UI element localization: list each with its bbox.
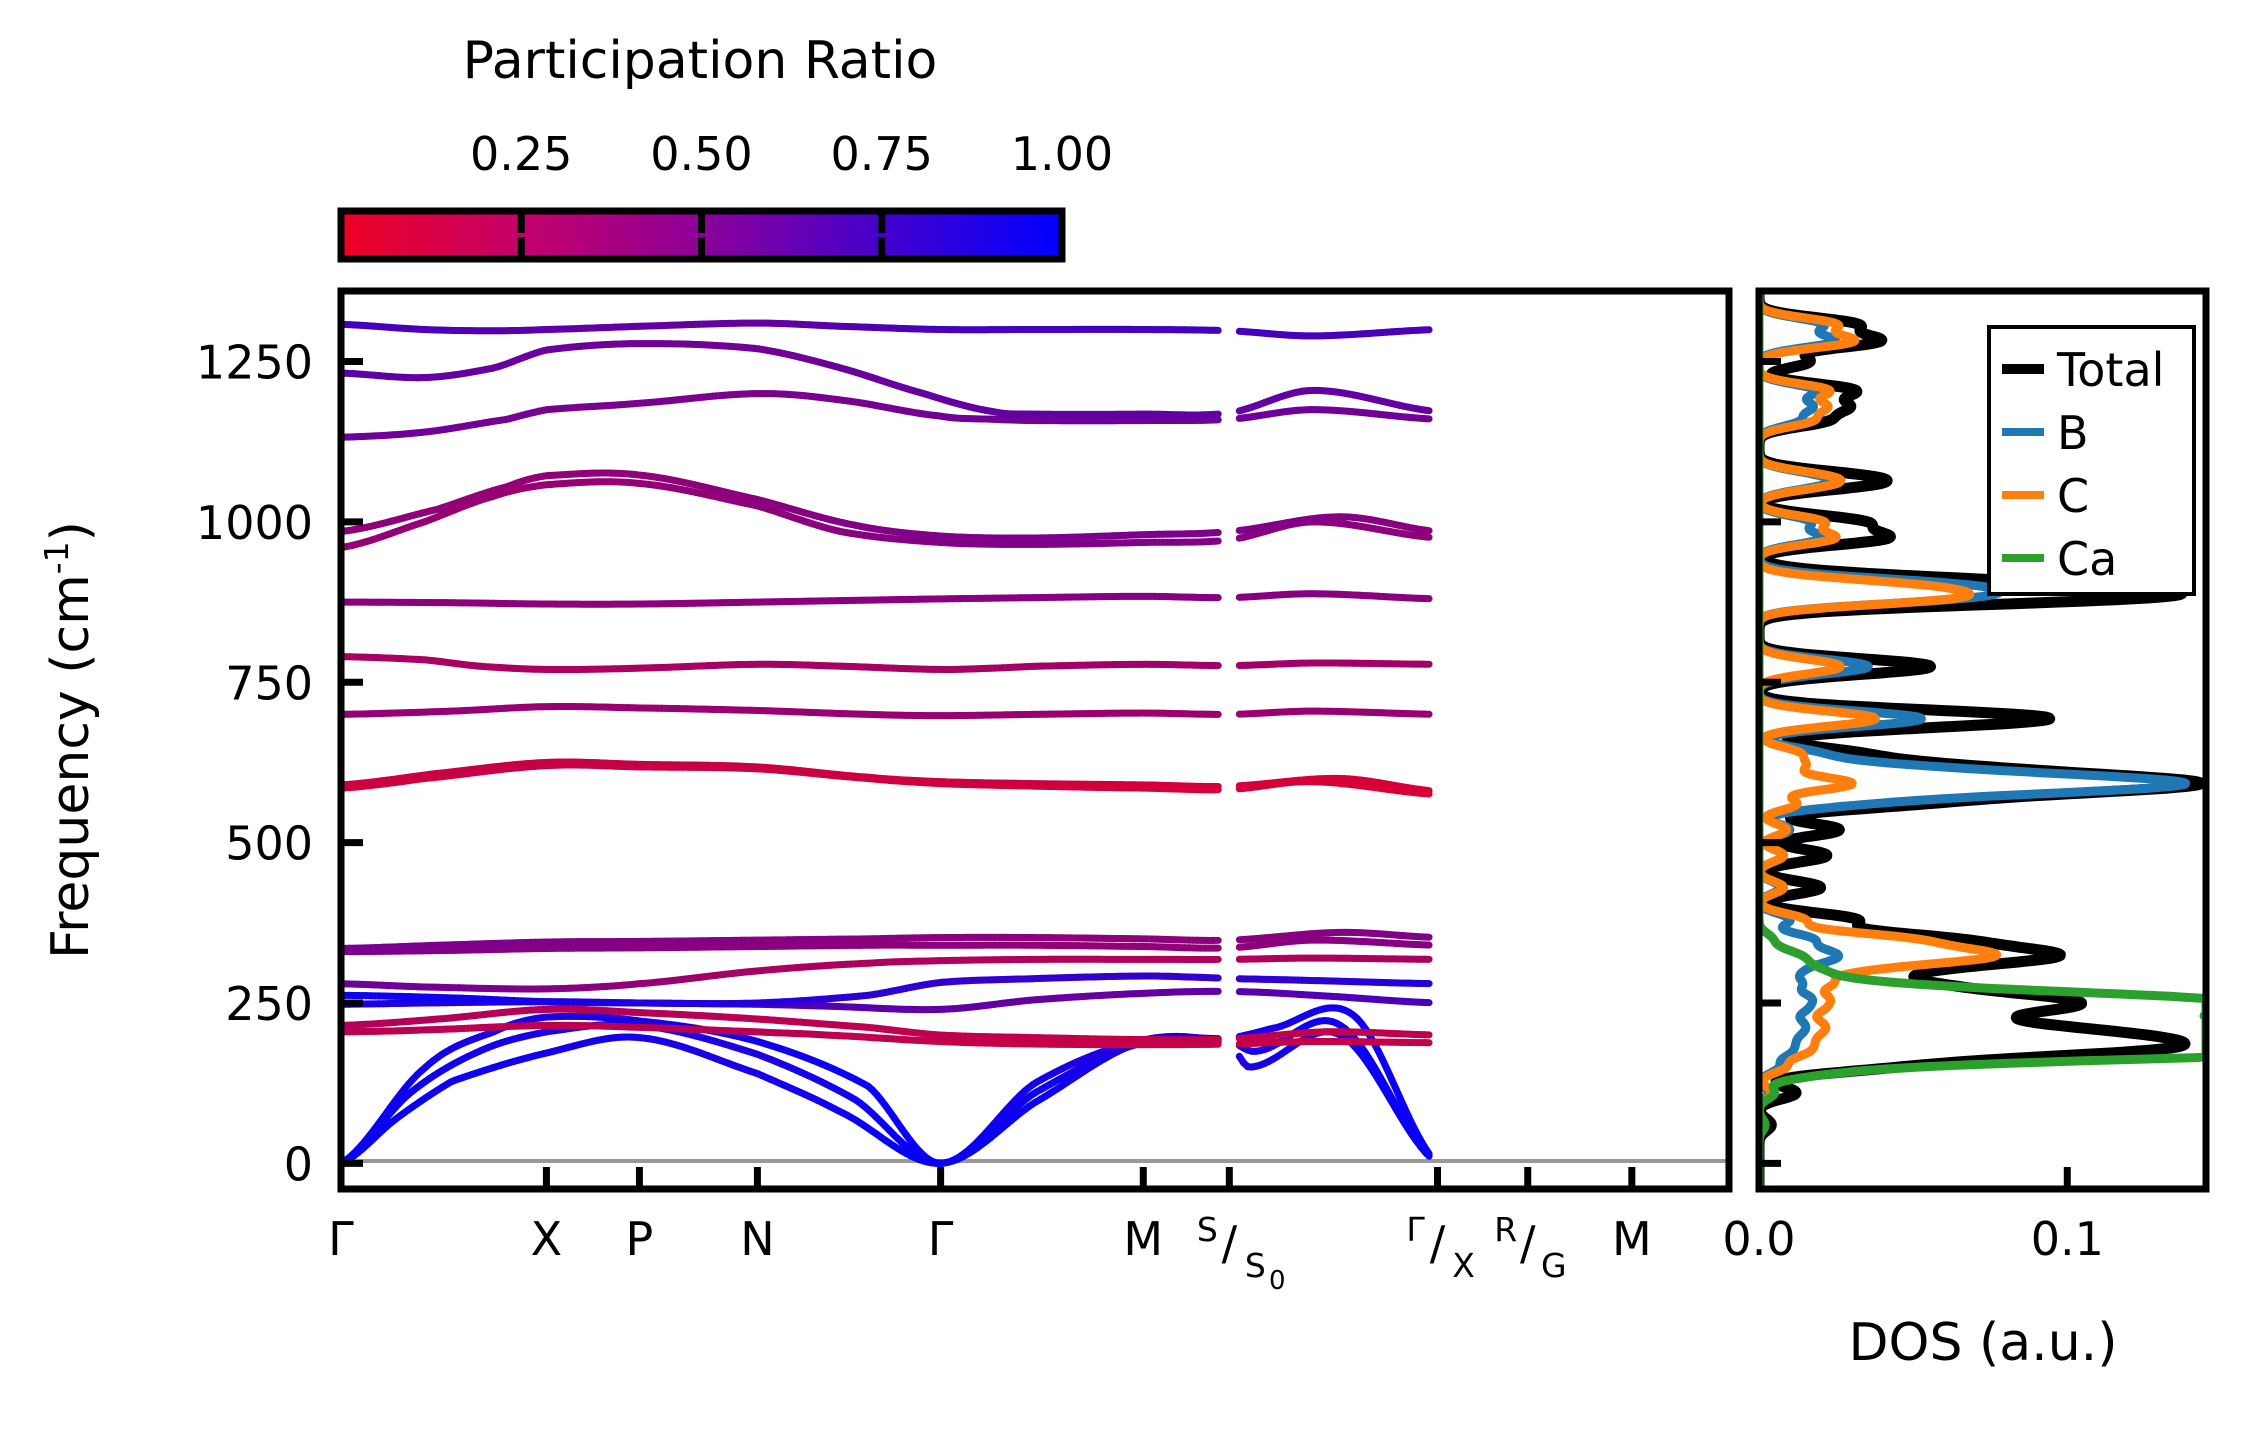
band-segment	[1425, 530, 1429, 531]
colorbar-tick-label: 0.50	[650, 127, 752, 181]
colorbar-tick-label: 1.00	[1011, 127, 1113, 181]
band-segment	[1425, 410, 1429, 411]
colorbar-tick-label: 0.75	[831, 127, 933, 181]
figure-root: Participation Ratio 0.250.500.751.00 025…	[0, 0, 2259, 1455]
band-segment	[1425, 1147, 1429, 1153]
colorbar-tick-label: 0.25	[470, 127, 572, 181]
colorbar-title: Participation Ratio	[463, 31, 938, 91]
phonon-figure: Participation Ratio 0.250.500.751.00 025…	[0, 0, 2259, 1455]
